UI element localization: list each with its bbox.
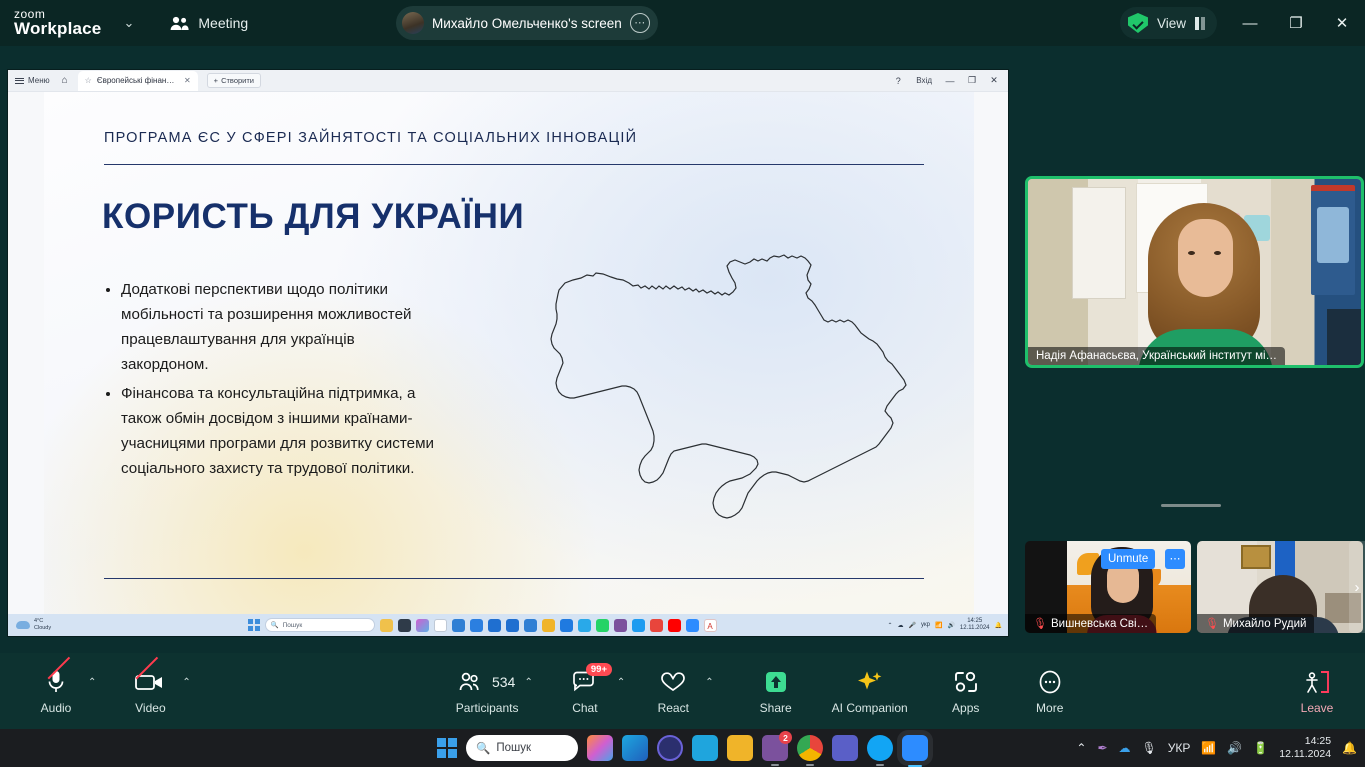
- chat-button-label: Chat: [572, 701, 597, 715]
- more-icon: [1037, 668, 1063, 696]
- more-button[interactable]: More: [1024, 659, 1076, 723]
- inner-tray-wifi-icon[interactable]: 📶: [935, 622, 942, 629]
- inner-app-acrobat-icon[interactable]: A: [704, 619, 717, 632]
- inner-tray-onedrive-icon[interactable]: ☁: [898, 622, 904, 629]
- taskbar-search-placeholder: Пошук: [496, 742, 531, 754]
- inner-app-paint-icon[interactable]: [380, 619, 393, 632]
- inner-app-edge-icon[interactable]: [452, 619, 465, 632]
- inner-tray-volume-icon[interactable]: 🔊: [947, 622, 954, 629]
- audio-options-chevron-icon[interactable]: ⌃: [88, 677, 96, 688]
- video-button[interactable]: Video: [124, 659, 176, 723]
- taskbar-file-explorer-icon[interactable]: [727, 735, 753, 761]
- zoom-logo-chevron-down-icon[interactable]: ⌄: [123, 15, 134, 31]
- inner-app-twitter-icon[interactable]: [632, 619, 645, 632]
- video-off-icon: [135, 668, 165, 696]
- browser-minimize-button[interactable]: —: [940, 76, 960, 86]
- ai-companion-button-label: AI Companion: [832, 701, 908, 715]
- inner-tray-notification-icon[interactable]: 🔔: [995, 622, 1002, 629]
- inner-tray-language[interactable]: укр: [921, 622, 930, 628]
- slide-bullet-list: Додаткові перспективи щодо політики мобі…: [104, 277, 444, 485]
- taskbar-calendar-icon[interactable]: [692, 735, 718, 761]
- apps-button-label: Apps: [952, 701, 979, 715]
- meeting-tab-label: Meeting: [198, 15, 248, 31]
- help-icon[interactable]: ?: [888, 76, 908, 86]
- speaker-eye-left: [1188, 251, 1195, 255]
- taskbar-app-grid-icon[interactable]: [657, 735, 683, 761]
- inner-app-telegram-icon[interactable]: [578, 619, 591, 632]
- participant-name: Михайло Рудий: [1223, 618, 1306, 630]
- slide-bullet: Додаткові перспективи щодо політики мобі…: [121, 277, 444, 377]
- encryption-shield-icon: [1128, 13, 1148, 33]
- shared-screen-region[interactable]: Меню ⌂ ☆ Європейські фінанс... ✕ + Створ…: [8, 70, 1008, 636]
- windows-taskbar: 🔍 Пошук 2 ⌃ ✒ ☁ 🎙 УКР 📶 🔊 🔋 14: [0, 729, 1365, 767]
- taskbar-zoom-icon[interactable]: [902, 735, 928, 761]
- ai-companion-button[interactable]: AI Companion: [832, 659, 908, 723]
- browser-maximize-button[interactable]: ❐: [962, 75, 982, 86]
- running-indicator: [876, 764, 884, 766]
- tray-volume-icon[interactable]: 🔊: [1227, 741, 1242, 755]
- tray-notifications-icon[interactable]: 🔔: [1342, 741, 1357, 755]
- chat-unread-badge: 99+: [586, 663, 612, 676]
- inner-system-tray: ⌃ ☁ 🎤 укр 📶 🔊 14:25 12.11.2024 🔔: [887, 618, 1002, 632]
- zoom-logo-line2: Workplace: [14, 20, 101, 38]
- screen-share-pill[interactable]: Михайло Омельченко's screen ⋯: [396, 6, 658, 40]
- tray-language[interactable]: УКР: [1168, 741, 1191, 755]
- tray-wifi-icon[interactable]: 📶: [1201, 741, 1216, 755]
- cloud-icon: [16, 621, 30, 629]
- new-tab-label: Створити: [221, 76, 254, 85]
- chair: [1327, 309, 1361, 365]
- taskbar-clock-date: 12.11.2024: [1279, 748, 1331, 761]
- search-icon: 🔍: [271, 621, 279, 629]
- sharer-avatar: [402, 12, 424, 34]
- plus-icon: +: [214, 76, 218, 85]
- unmute-button[interactable]: Unmute: [1101, 549, 1155, 569]
- zoom-minimize-button[interactable]: —: [1227, 0, 1273, 46]
- inner-app-store-icon[interactable]: [398, 619, 411, 632]
- new-tab-button[interactable]: + Створити: [207, 73, 261, 88]
- viber-badge: 2: [779, 731, 792, 744]
- taskbar-teams-icon[interactable]: [832, 735, 858, 761]
- inner-app-zoom-icon[interactable]: [686, 619, 699, 632]
- react-button-label: React: [658, 701, 689, 715]
- inner-taskbar-apps: 🔍 Пошук A: [248, 618, 717, 632]
- sign-in-button[interactable]: Вхід: [910, 74, 938, 87]
- inner-app-copilot-icon[interactable]: [416, 619, 429, 632]
- browser-close-button[interactable]: ✕: [984, 75, 1004, 86]
- browser-tab-title: Європейські фінанс...: [97, 76, 176, 85]
- inner-clock[interactable]: 14:25 12.11.2024: [960, 618, 990, 632]
- inner-app-explorer-icon[interactable]: [542, 619, 555, 632]
- inner-tray-mic-icon[interactable]: 🎤: [909, 622, 916, 629]
- browser-menu-button[interactable]: Меню: [15, 76, 50, 85]
- participants-icon: 534: [459, 668, 515, 696]
- react-button[interactable]: React: [647, 659, 699, 723]
- zoom-top-bar: zoom Workplace ⌄ Meeting Михайло Омельче…: [0, 0, 1365, 46]
- browser-window-controls: ? Вхід — ❐ ✕: [888, 74, 1004, 87]
- heart-icon: [660, 668, 686, 696]
- video-button-label: Video: [135, 701, 165, 715]
- browser-home-icon[interactable]: ⌂: [62, 75, 68, 86]
- participants-count: 534: [492, 674, 515, 690]
- participants-button-label: Participants: [456, 701, 519, 715]
- react-chevron-icon[interactable]: ⌃: [705, 677, 713, 688]
- browser-tab[interactable]: ☆ Європейські фінанс... ✕: [78, 71, 198, 91]
- next-page-arrow-icon[interactable]: ›: [1349, 541, 1365, 633]
- layout-grid-icon: [1195, 17, 1205, 30]
- slide-eyebrow: ПРОГРАМА ЄС У СФЕРІ ЗАЙНЯТОСТІ ТА СОЦІАЛ…: [104, 130, 924, 146]
- close-tab-icon[interactable]: ✕: [184, 76, 191, 85]
- chat-icon: 99+: [572, 668, 598, 696]
- apps-icon: [953, 668, 979, 696]
- participants-chevron-icon[interactable]: ⌃: [524, 677, 532, 688]
- inner-app-whatsapp-icon[interactable]: [596, 619, 609, 632]
- weather-widget[interactable]: 4°C Cloudy: [16, 618, 51, 632]
- tray-onedrive-icon[interactable]: ☁: [1119, 741, 1131, 755]
- taskbar-copilot-icon[interactable]: [587, 735, 613, 761]
- more-button-label: More: [1036, 701, 1063, 715]
- search-icon: 🔍: [476, 741, 490, 755]
- share-button-label: Share: [760, 701, 792, 715]
- inner-app-outlook2-icon[interactable]: [506, 619, 519, 632]
- whiteboard-small: [1072, 187, 1126, 299]
- inner-clock-date: 12.11.2024: [960, 625, 990, 632]
- taskbar-search-box[interactable]: 🔍 Пошук: [466, 735, 578, 761]
- audio-button-label: Audio: [41, 701, 72, 715]
- running-indicator: [771, 764, 779, 766]
- chat-chevron-icon[interactable]: ⌃: [617, 677, 625, 688]
- people-icon: [170, 16, 189, 31]
- taskbar-edge-icon[interactable]: [622, 735, 648, 761]
- microphone-off-icon: [47, 668, 65, 696]
- video-options-chevron-icon[interactable]: ⌃: [182, 677, 190, 688]
- inner-app-viber-icon[interactable]: [614, 619, 627, 632]
- speaker-eye-right: [1214, 251, 1221, 255]
- running-indicator: [806, 764, 814, 766]
- europe-map-poster: [1311, 185, 1355, 295]
- leave-icon: [1303, 668, 1331, 696]
- inner-app-notes-icon[interactable]: [434, 619, 447, 632]
- screen-share-label: Михайло Омельченко's screen: [432, 16, 622, 31]
- leave-button[interactable]: Leave: [1291, 659, 1343, 723]
- active-speaker-tile[interactable]: Надія Афанасьєва, Український інститут м…: [1025, 176, 1364, 368]
- participant-tile[interactable]: 🎙Михайло Рудий: [1197, 541, 1363, 633]
- participant-name-row: 🎙Вишневська Сві…: [1025, 614, 1156, 633]
- leave-button-label: Leave: [1301, 701, 1334, 715]
- taskbar-clock-time: 14:25: [1279, 735, 1331, 748]
- taskbar-clock[interactable]: 14:25 12.11.2024: [1279, 735, 1331, 761]
- tray-battery-icon[interactable]: 🔋: [1253, 741, 1268, 755]
- presentation-slide: ПРОГРАМА ЄС У СФЕРІ ЗАЙНЯТОСТІ ТА СОЦІАЛ…: [44, 92, 974, 614]
- zoom-maximize-button[interactable]: ❐: [1273, 0, 1319, 46]
- taskbar-viber-icon[interactable]: 2: [762, 735, 788, 761]
- speaker-face: [1178, 219, 1233, 297]
- participant-name-row: 🎙Михайло Рудий: [1197, 614, 1314, 633]
- inner-tray-chevron-icon[interactable]: ⌃: [887, 622, 892, 629]
- zoom-logo: zoom Workplace: [14, 8, 101, 38]
- chat-button[interactable]: 99+ Chat: [559, 659, 611, 723]
- video-thumbnail-strip: Надія Афанасьєва, Український інститут м…: [1016, 46, 1365, 653]
- inner-app-store2-icon[interactable]: [470, 619, 483, 632]
- participant-tile[interactable]: Unmute ⋯ 🎙Вишневська Сві…: [1025, 541, 1191, 633]
- system-tray: ⌃ ✒ ☁ 🎙 УКР 📶 🔊 🔋 14:25 12.11.2024 🔔: [1076, 735, 1357, 761]
- meeting-tab[interactable]: Meeting: [170, 15, 248, 31]
- inner-app-outlook-icon[interactable]: [488, 619, 501, 632]
- slide-divider-bottom: [104, 578, 924, 579]
- presentation-slide-area[interactable]: ПРОГРАМА ЄС У СФЕРІ ЗАЙНЯТОСТІ ТА СОЦІАЛ…: [8, 92, 1008, 614]
- inner-windows-taskbar: 4°C Cloudy 🔍 Пошук: [8, 614, 1008, 636]
- mic-off-icon: 🎙: [1033, 617, 1047, 630]
- zoom-bottom-toolbar: Audio ⌃ Video ⌃ 534 Participants ⌃ 99+ C…: [0, 653, 1365, 729]
- weather-temp: 4°C: [34, 618, 51, 625]
- weather-desc: Cloudy: [34, 625, 51, 632]
- inner-app-chrome-icon[interactable]: [650, 619, 663, 632]
- tray-pen-icon[interactable]: ✒: [1097, 741, 1107, 755]
- browser-tab-bar: Меню ⌂ ☆ Європейські фінанс... ✕ + Створ…: [8, 70, 1008, 92]
- inner-search-box[interactable]: 🔍 Пошук: [265, 618, 375, 632]
- zoom-close-button[interactable]: ✕: [1319, 0, 1365, 46]
- hamburger-icon: [15, 78, 24, 84]
- inner-search-placeholder: Пошук: [283, 622, 303, 629]
- share-icon: [764, 668, 788, 696]
- strip-resize-handle[interactable]: [1161, 504, 1221, 507]
- view-button-label: View: [1157, 16, 1186, 31]
- mic-off-icon: 🎙: [1205, 617, 1219, 630]
- participants-button[interactable]: 534 Participants: [456, 659, 519, 723]
- participant-name: Вишневська Сві…: [1051, 618, 1148, 630]
- apps-button[interactable]: Apps: [940, 659, 992, 723]
- taskbar-apps: 🔍 Пошук 2: [437, 735, 928, 761]
- audio-button[interactable]: Audio: [30, 659, 82, 723]
- zoom-window-controls: View — ❐ ✕: [1120, 0, 1365, 46]
- taskbar-skype-icon[interactable]: [867, 735, 893, 761]
- browser-menu-label: Меню: [28, 76, 50, 85]
- participant-more-icon[interactable]: ⋯: [1165, 549, 1185, 569]
- tray-microphone-icon[interactable]: 🎙: [1142, 741, 1157, 755]
- wall-picture-frame: [1241, 545, 1271, 569]
- screen-share-more-icon[interactable]: ⋯: [630, 13, 650, 33]
- inner-app-todo-icon[interactable]: [524, 619, 537, 632]
- inner-start-icon[interactable]: [248, 619, 260, 631]
- inner-app-youtube-icon[interactable]: [668, 619, 681, 632]
- taskbar-chrome-icon[interactable]: [797, 735, 823, 761]
- sparkle-icon: [857, 668, 883, 696]
- tray-chevron-up-icon[interactable]: ⌃: [1076, 741, 1086, 755]
- slide-bullet: Фінансова та консультаційна підтримка, а…: [121, 381, 444, 481]
- ukraine-map-icon: [499, 242, 939, 532]
- star-icon: ☆: [85, 76, 92, 85]
- start-button-icon[interactable]: [437, 738, 457, 758]
- slide-divider-top: [104, 164, 924, 165]
- view-button[interactable]: View: [1120, 7, 1217, 39]
- slide-title: КОРИСТЬ ДЛЯ УКРАЇНИ: [102, 197, 524, 237]
- inner-app-messenger-icon[interactable]: [560, 619, 573, 632]
- share-button[interactable]: Share: [750, 659, 802, 723]
- inner-clock-time: 14:25: [960, 618, 990, 625]
- active-speaker-name: Надія Афанасьєва, Український інститут м…: [1028, 347, 1285, 365]
